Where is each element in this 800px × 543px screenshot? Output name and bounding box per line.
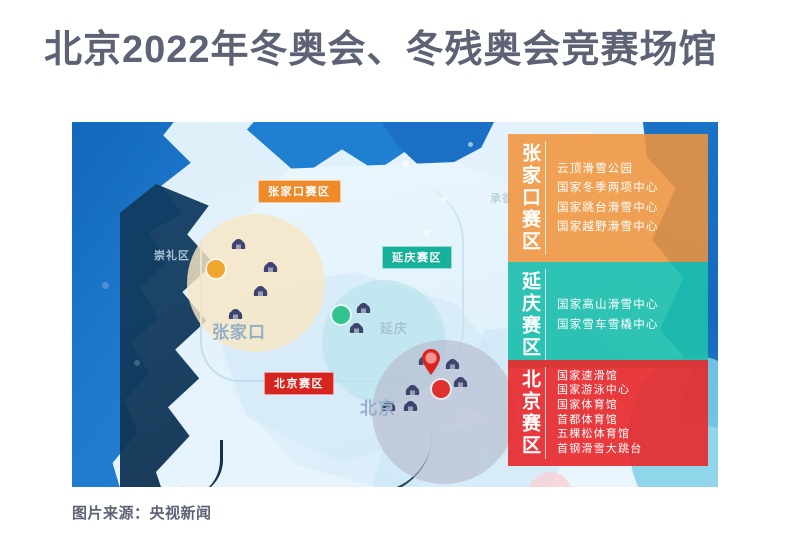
legend-title-yanqing: 延庆赛区 — [518, 269, 546, 361]
legend-panel-zhangjiakou[interactable]: 张家口赛区 云顶滑雪公园 国家冬季两项中心 国家跳台滑雪中心 国家越野滑雪中心 — [508, 134, 708, 262]
venue-marker-icon — [262, 261, 279, 274]
map-decor-dot — [442, 196, 447, 201]
legend-venue-item: 首都体育馆 — [557, 415, 694, 427]
venue-marker-icon — [404, 384, 421, 397]
venue-marker-icon — [252, 285, 269, 298]
legend-venue-item: 国家跳台滑雪中心 — [557, 202, 694, 214]
zone-pill-yanqing[interactable]: 延庆赛区 — [382, 246, 452, 269]
map-label-tianjin: 天津 — [476, 444, 492, 468]
venue-marker-icon — [230, 238, 247, 251]
legend-panel-yanqing[interactable]: 延庆赛区 国家高山滑雪中心 国家雪车雪橇中心 — [508, 262, 708, 368]
map-decor-dot — [468, 142, 473, 147]
venue-marker-icon — [444, 358, 461, 371]
legend-venue-item: 国家冬季两项中心 — [557, 182, 694, 194]
zone-pill-beijing[interactable]: 北京赛区 — [264, 372, 334, 395]
highlight-marker-yanqing — [332, 306, 350, 324]
venue-marker-icon — [355, 302, 372, 315]
legend-venue-item: 云顶滑雪公园 — [557, 163, 694, 175]
map-figure: 张家口赛区 崇礼区 张家口 延庆赛区 延庆 北京赛区 北京 承德 天津 张家口赛… — [72, 122, 718, 487]
source-caption: 图片来源：央视新闻 — [72, 502, 212, 523]
legend-panel-beijing[interactable]: 北京赛区 国家速滑馆 国家游泳中心 国家体育馆 首都体育馆 五棵松体育馆 首钢滑… — [508, 360, 708, 466]
map-decor-dot — [134, 360, 140, 366]
legend-venue-item: 国家体育馆 — [557, 400, 694, 412]
zone-pill-zhangjiakou[interactable]: 张家口赛区 — [258, 180, 341, 203]
map-pin-icon — [420, 348, 442, 376]
legend-venue-item: 国家雪车雪橇中心 — [557, 319, 694, 331]
page-title: 北京2022年冬奥会、冬残奥会竞赛场馆 — [44, 28, 774, 74]
highlight-marker-beijing — [432, 380, 450, 398]
legend-title-zhangjiakou: 张家口赛区 — [518, 141, 546, 255]
legend-venue-item: 国家游泳中心 — [557, 385, 694, 397]
venue-marker-icon — [452, 376, 469, 389]
map-label-yanqing-town: 延庆 — [380, 318, 408, 337]
map-border-line-4 — [160, 440, 223, 487]
map-label-zhangjiakou-city: 张家口 — [212, 318, 266, 343]
legend-title-beijing: 北京赛区 — [518, 367, 546, 459]
map-label-beijing-city: 北京 — [360, 394, 396, 419]
legend-venue-list-zhangjiakou: 云顶滑雪公园 国家冬季两项中心 国家跳台滑雪中心 国家越野滑雪中心 — [557, 141, 694, 255]
legend-venue-item: 国家高山滑雪中心 — [557, 299, 694, 311]
legend-venue-item: 五棵松体育馆 — [557, 429, 694, 441]
map-decor-dot — [102, 282, 109, 289]
highlight-marker-zhangjiakou — [207, 260, 225, 278]
legend-venue-item: 国家速滑馆 — [557, 371, 694, 383]
venue-marker-icon — [348, 322, 365, 335]
legend-venue-list-beijing: 国家速滑馆 国家游泳中心 国家体育馆 首都体育馆 五棵松体育馆 首钢滑雪大跳台 — [557, 367, 694, 459]
venue-marker-icon — [402, 400, 419, 413]
map-decor-dot — [402, 160, 409, 167]
legend-venue-item: 国家越野滑雪中心 — [557, 221, 694, 233]
legend-venue-item: 首钢滑雪大跳台 — [557, 444, 694, 456]
map-label-chongli: 崇礼区 — [154, 247, 190, 263]
legend-venue-list-yanqing: 国家高山滑雪中心 国家雪车雪橇中心 — [557, 269, 694, 361]
